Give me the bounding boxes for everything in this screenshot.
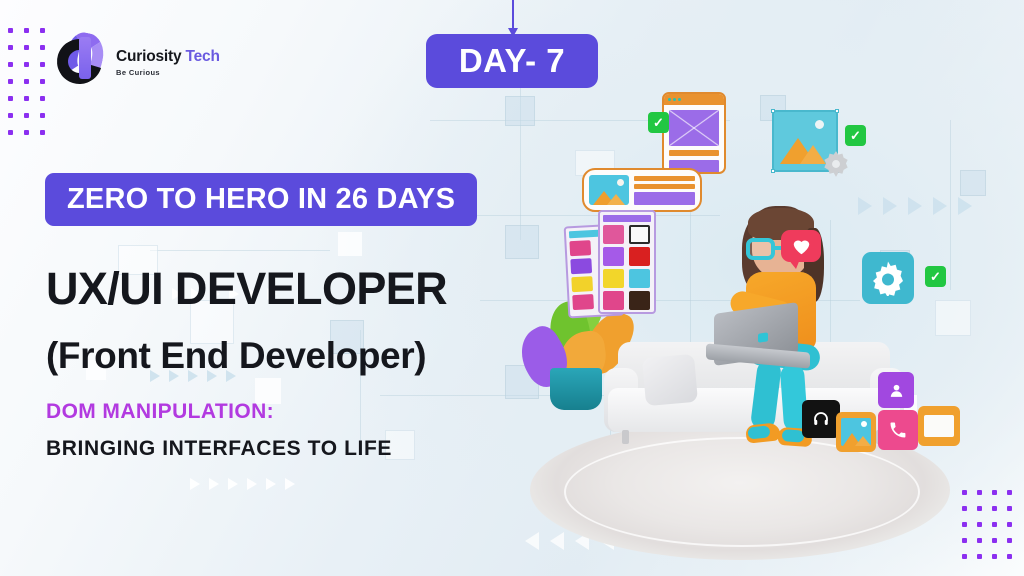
check-badge-2: ✓ bbox=[845, 125, 866, 146]
gear-icon-tile bbox=[862, 252, 914, 304]
laptop bbox=[706, 308, 810, 370]
course-ribbon: ZERO TO HERO IN 26 DAYS bbox=[45, 173, 477, 226]
curiosity-c-logo-icon bbox=[55, 33, 109, 88]
image-banner-pill bbox=[582, 168, 702, 212]
heart-like-bubble bbox=[781, 230, 821, 262]
poster-canvas: Curiosity Tech Be Curious DAY- 7 ZERO TO… bbox=[0, 0, 1024, 576]
color-swatch-panel-front bbox=[598, 210, 656, 314]
browser-wireframe-card bbox=[662, 92, 726, 174]
tile-user-icon bbox=[878, 372, 914, 408]
play-arrows-bottom-left bbox=[190, 478, 295, 490]
tile-headphone-icon bbox=[802, 400, 840, 438]
tile-phone-icon bbox=[878, 410, 918, 450]
check-badge-4: ✓ bbox=[925, 266, 946, 287]
topic-highlight: DOM MANIPULATION: bbox=[46, 400, 274, 424]
hero-illustration: ✓ ✓ ✓ ✓ bbox=[500, 70, 1020, 570]
arrow-down-icon bbox=[512, 0, 514, 30]
topic-body: BRINGING INTERFACES TO LIFE bbox=[46, 434, 446, 464]
page-title: UX/UI DEVELOPER bbox=[46, 263, 447, 315]
brand-name-part1: Curiosity bbox=[116, 48, 185, 65]
gear-icon-medium bbox=[822, 150, 850, 178]
page-subtitle: (Front End Developer) bbox=[46, 335, 426, 377]
brand-name-part2: Tech bbox=[185, 48, 219, 65]
brand-tagline: Be Curious bbox=[116, 69, 220, 77]
tile-card-icon bbox=[918, 406, 960, 446]
brand-logo-text: Curiosity Tech Be Curious bbox=[116, 45, 220, 76]
tile-image-icon bbox=[836, 412, 876, 452]
dot-grid-top-left bbox=[8, 28, 56, 147]
brand-logo[interactable]: Curiosity Tech Be Curious bbox=[55, 33, 220, 88]
check-badge-1: ✓ bbox=[648, 112, 669, 133]
